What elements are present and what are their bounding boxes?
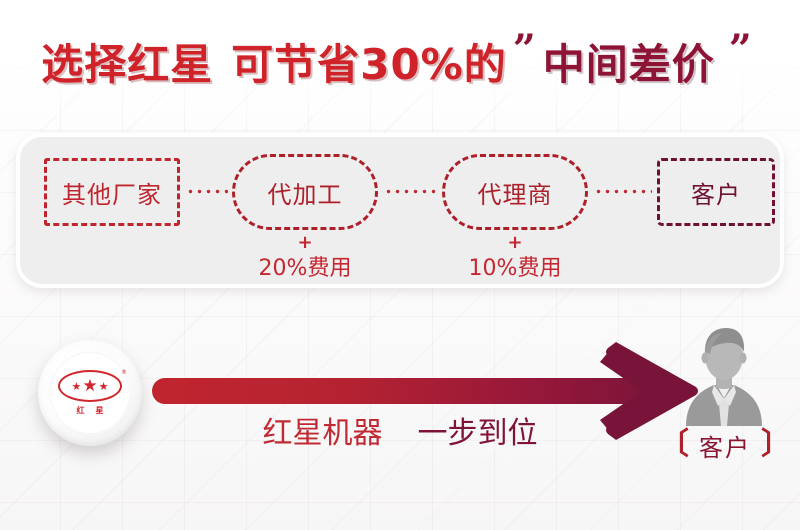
flow-node-label: 代理商 [478,175,553,210]
fee-markup-oem: + 20%费用 [232,233,378,281]
fee-plus-sign: + [232,233,378,254]
star-icon: ★ [82,378,97,395]
headline-part1: 选择红星 [41,31,213,92]
three-stars-icon: ★ ★ ★ ® [58,370,122,402]
flow-node-oem-processing: 代加工 [232,154,378,230]
arrow-slogan: 红星机器 一步到位 [200,408,600,452]
flow-node-label: 代加工 [268,175,343,210]
flow-node-agent: 代理商 [442,154,588,230]
direct-arrow-shaft [152,378,672,404]
customer-tag: 〔 客户 〕 [650,428,800,462]
flow-node-label: 其他厂家 [62,175,162,210]
flow-node-customer: 客户 [657,158,775,226]
star-icon: ★ [99,381,109,392]
fee-amount: 20%费用 [232,256,378,281]
quote-open-glyph: ” [507,26,543,73]
flow-connector-2 [384,189,438,194]
flow-connector-1 [186,189,228,194]
brand-logo-badge: ★ ★ ★ ® 红星 [38,340,142,446]
slogan-part1: 红星机器 [262,416,382,451]
customer-avatar-icon [672,326,776,426]
fee-plus-sign: + [442,233,588,254]
bracket-right-icon: 〕 [761,430,791,460]
flow-node-other-manufacturer: 其他厂家 [44,158,180,226]
fee-amount: 10%费用 [442,256,588,281]
quote-close-glyph: ” [715,26,759,73]
flow-row: 其他厂家 代加工 代理商 客户 + 20%费用 + 10%费用 [20,137,780,284]
fee-markup-agent: + 10%费用 [442,233,588,281]
star-icon: ★ [72,381,82,392]
bracket-left-icon: 〔 [659,430,689,460]
customer-label: 客户 [699,428,751,463]
headline-part2: 可节省30%的 [231,31,507,92]
flow-connector-3 [594,189,652,194]
poster-canvas: 选择红星 可节省30%的 ” 中间差价 ” 其他厂家 代加工 代理商 客户 [0,0,800,530]
registered-mark-icon: ® [121,369,127,376]
middleman-flow-card: 其他厂家 代加工 代理商 客户 + 20%费用 + 10%费用 [16,133,784,288]
brand-wordmark: 红星 [66,405,115,416]
flow-node-label: 客户 [691,175,741,210]
brand-logo-inner: ★ ★ ★ ® 红星 [50,352,130,434]
page-title: 选择红星 可节省30%的 ” 中间差价 ” [0,30,800,92]
slogan-part2: 一步到位 [418,416,538,451]
headline-emphasis: 中间差价 [543,31,715,92]
